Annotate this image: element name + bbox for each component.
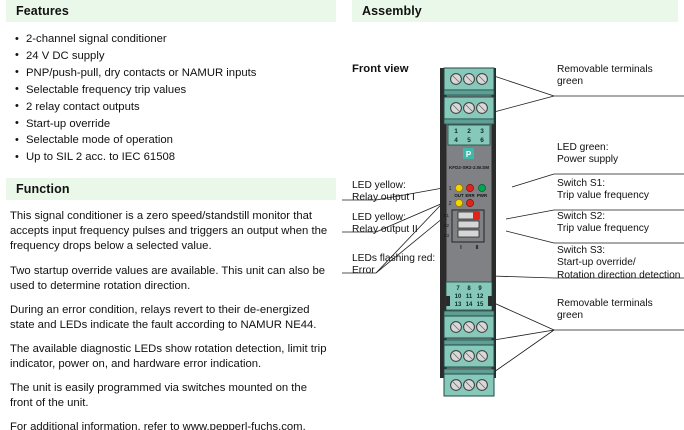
terminal-number: 11 — [466, 294, 473, 300]
features-title: Features — [16, 4, 69, 18]
feature-item: Selectable mode of operation — [26, 132, 342, 149]
callout-line: Relay output II — [352, 224, 418, 236]
dip-switch-row[interactable] — [458, 221, 479, 228]
callout-line: LED yellow: — [352, 212, 418, 224]
callout-line: Removable terminals — [557, 64, 653, 76]
terminal-block-bottom-3 — [444, 369, 494, 396]
function-title: Function — [16, 182, 70, 196]
feature-item: Start-up override — [26, 116, 342, 133]
terminal-block-bottom-2 — [444, 340, 494, 367]
switch-label: S2 — [444, 223, 450, 228]
terminal-number: 14 — [466, 302, 473, 308]
callout-line: Switch S2: — [557, 211, 649, 223]
led-yellow-out-icon — [455, 199, 462, 206]
feature-item: 24 V DC supply — [26, 48, 342, 65]
device-model-label: KFD2-SR2-2.W.SM — [449, 165, 489, 170]
led-row-number: 1 — [448, 186, 451, 192]
terminal-block-top-1 — [444, 68, 494, 95]
terminal-number: 3 — [480, 128, 484, 135]
datasheet-page: Features 2-channel signal conditioner 24… — [0, 0, 684, 430]
terminal-number: 6 — [480, 137, 484, 144]
callout-switch-s2: Switch S2: Trip value frequency — [557, 211, 649, 236]
svg-text:P: P — [466, 150, 472, 159]
function-paragraph: For additional information, refer to www… — [10, 420, 328, 430]
callout-switch-s3: Switch S3: Start-up override/ Rotation d… — [557, 245, 680, 282]
callout-line: Switch S3: — [557, 245, 680, 257]
device-module: 1 2 3 4 5 6 P KFD2-SR2-2.W.SM 1 — [440, 68, 496, 396]
pepperl-fuchs-logo-icon: P — [463, 148, 474, 159]
switch-label: S3 — [444, 233, 450, 238]
dip-switch-toggle[interactable] — [473, 212, 479, 219]
callout-line: Rotation direction detection — [557, 270, 680, 282]
led-yellow-out-icon — [455, 184, 462, 191]
callout-line: Switch S1: — [557, 178, 649, 190]
callout-line: Error — [352, 265, 435, 277]
switch-label: S1 — [444, 213, 450, 218]
led-labels: OUT ERR PWR — [454, 193, 488, 198]
left-column: Features 2-channel signal conditioner 24… — [0, 0, 342, 430]
terminal-number: 13 — [455, 302, 462, 308]
callout-led-yellow-2: LED yellow: Relay output II — [352, 212, 418, 237]
callout-terminals-top: Removable terminals green — [557, 64, 653, 89]
callout-line: Power supply — [557, 154, 618, 166]
terminal-number: 4 — [454, 137, 458, 144]
callout-line: Trip value frequency — [557, 223, 649, 235]
callout-terminals-bottom: Removable terminals green — [557, 298, 653, 323]
callout-line: Trip value frequency — [557, 190, 649, 202]
terminal-number: 15 — [477, 302, 484, 308]
function-paragraph: The unit is easily programmed via switch… — [10, 381, 328, 411]
terminal-number: 12 — [477, 294, 484, 300]
feature-item: 2 relay contact outputs — [26, 99, 342, 116]
function-paragraph: Two startup override values are availabl… — [10, 264, 328, 294]
terminal-block-top-2 — [444, 97, 494, 124]
callout-leds-error: LEDs flashing red: Error — [352, 253, 435, 278]
terminal-number: 2 — [467, 128, 471, 135]
led-green-pwr-icon — [478, 184, 485, 191]
function-paragraph: During an error condition, relays revert… — [10, 303, 328, 333]
feature-item: Up to SIL 2 acc. to IEC 61508 — [26, 149, 342, 166]
function-paragraph: This signal conditioner is a zero speed/… — [10, 209, 328, 254]
led-label: PWR — [477, 193, 488, 198]
callout-line: LED green: — [557, 142, 618, 154]
callout-led-green: LED green: Power supply — [557, 142, 618, 167]
callout-led-yellow-1: LED yellow: Relay output I — [352, 180, 415, 205]
led-red-err-icon — [466, 199, 473, 206]
feature-item: PNP/push-pull, dry contacts or NAMUR inp… — [26, 65, 342, 82]
callout-line: Start-up override/ — [557, 257, 680, 269]
terminal-block-bottom-1 — [444, 311, 494, 338]
callout-switch-s1: Switch S1: Trip value frequency — [557, 178, 649, 203]
callout-line: green — [557, 76, 653, 88]
callout-line: green — [557, 310, 653, 322]
terminal-number: 5 — [467, 137, 471, 144]
dip-switch-row[interactable] — [458, 230, 479, 237]
led-red-err-icon — [466, 184, 473, 191]
terminal-numbers-bottom: 7 8 9 10 11 12 13 14 15 — [446, 282, 492, 310]
terminal-number: 1 — [454, 128, 458, 135]
led-label: OUT — [454, 193, 464, 198]
function-section-header: Function — [6, 178, 336, 200]
features-list: 2-channel signal conditioner 24 V DC sup… — [0, 31, 342, 166]
features-section-header: Features — [6, 0, 336, 22]
terminal-number: 10 — [455, 294, 462, 300]
callout-line: Removable terminals — [557, 298, 653, 310]
led-label: ERR — [465, 193, 475, 198]
led-row-number: 2 — [448, 201, 451, 207]
callout-line: Relay output I — [352, 192, 415, 204]
feature-item: 2-channel signal conditioner — [26, 31, 342, 48]
function-paragraph: The available diagnostic LEDs show rotat… — [10, 342, 328, 372]
function-body: This signal conditioner is a zero speed/… — [0, 200, 342, 430]
terminal-numbers-top: 1 2 3 4 5 6 — [448, 125, 490, 145]
feature-item: Selectable frequency trip values — [26, 82, 342, 99]
callout-line: LED yellow: — [352, 180, 415, 192]
callout-line: LEDs flashing red: — [352, 253, 435, 265]
